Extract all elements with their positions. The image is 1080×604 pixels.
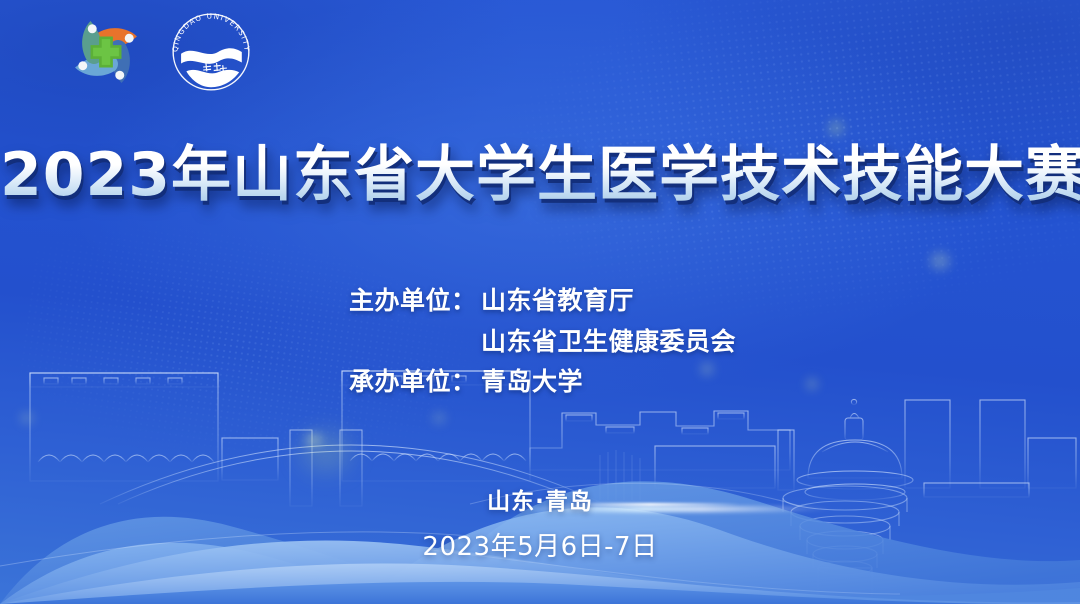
organizer-value: 山东省卫生健康委员会: [481, 322, 736, 363]
organizer-row: 主办单位： 山东省教育厅: [349, 281, 736, 322]
medical-skills-competition-logo-icon: [63, 9, 149, 95]
svg-text:1909: 1909: [201, 75, 220, 83]
footer-block: 山东·青岛 2023年5月6日-7日: [0, 482, 1080, 563]
organizer-block: 主办单位： 山东省教育厅 主办单位： 山东省卫生健康委员会 承办单位： 青岛大学: [349, 281, 736, 403]
organizer-value: 山东省教育厅: [481, 281, 634, 322]
organizer-value: 青岛大学: [481, 362, 583, 403]
organizer-label: 主办单位：: [349, 281, 481, 322]
organizer-row: 承办单位： 青岛大学: [349, 362, 736, 403]
event-place: 山东·青岛: [0, 482, 1080, 516]
qingdao-university-logo-icon: QINGDAO UNIVERSITY 1909: [167, 8, 255, 96]
organizer-row: 主办单位： 山东省卫生健康委员会: [349, 322, 736, 363]
poster-title: 2023年山东省大学生医学技术技能大赛: [0, 142, 1080, 209]
organizer-label: 承办单位：: [349, 362, 481, 403]
logo-row: QINGDAO UNIVERSITY 1909: [63, 8, 255, 96]
poster-canvas: QINGDAO UNIVERSITY 1909 2023年山东省大学生医学技术技…: [0, 0, 1080, 604]
svg-text:QINGDAO UNIVERSITY: QINGDAO UNIVERSITY: [170, 11, 251, 52]
event-date: 2023年5月6日-7日: [0, 526, 1080, 563]
